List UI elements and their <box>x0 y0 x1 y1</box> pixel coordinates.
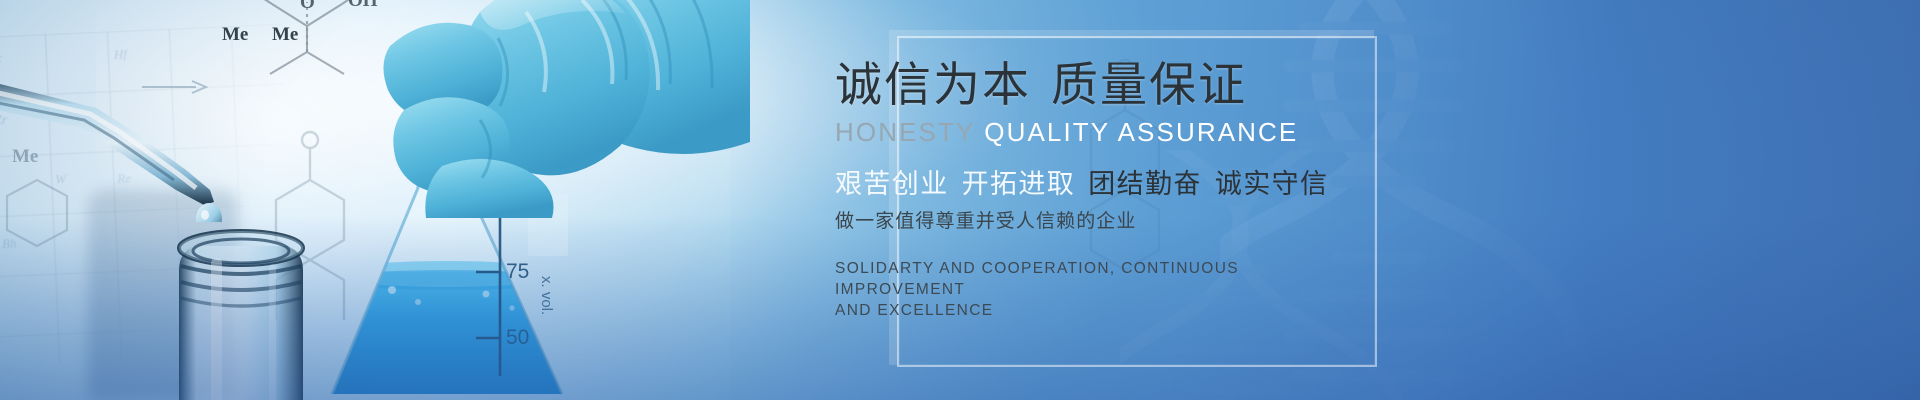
sub-slogan: 做一家值得尊重并受人信赖的企业 <box>835 206 1575 233</box>
page-title: 诚信为本质量保证 <box>835 60 1575 110</box>
slogan-part-4: 诚实守信 <box>1215 169 1329 199</box>
chem-label-o: O <box>300 0 315 14</box>
headline-part-2: 质量保证 <box>1051 58 1247 111</box>
subheadline: HONESTY QUALITY ASSURANCE <box>835 117 1575 148</box>
tagline-line-2: AND EXCELLENCE <box>835 300 1355 321</box>
subheadline-honesty: HONESTY <box>835 117 975 147</box>
tagline: SOLIDARTY AND COOPERATION, CONTINUOUS IM… <box>835 258 1355 322</box>
gloved-hand <box>330 0 750 220</box>
banner-copy: 诚信为本质量保证 HONESTY QUALITY ASSURANCE 艰苦创业开… <box>835 60 1575 322</box>
headline-part-1: 诚信为本 <box>835 58 1031 111</box>
promo-banner: Sc Zr W Re Bh Hf Me Me O OH Me <box>0 0 1920 400</box>
slogan-part-1: 艰苦创业 <box>835 169 949 199</box>
pipette <box>0 42 308 222</box>
slogan-line: 艰苦创业开拓进取团结勤奋诚实守信 <box>835 170 1575 200</box>
slogan-part-2: 开拓进取 <box>962 169 1076 199</box>
tagline-line-1: SOLIDARTY AND COOPERATION, CONTINUOUS IM… <box>835 258 1355 301</box>
slogan-part-3: 团结勤奋 <box>1088 169 1202 199</box>
subheadline-quality-assurance: QUALITY ASSURANCE <box>984 117 1298 147</box>
